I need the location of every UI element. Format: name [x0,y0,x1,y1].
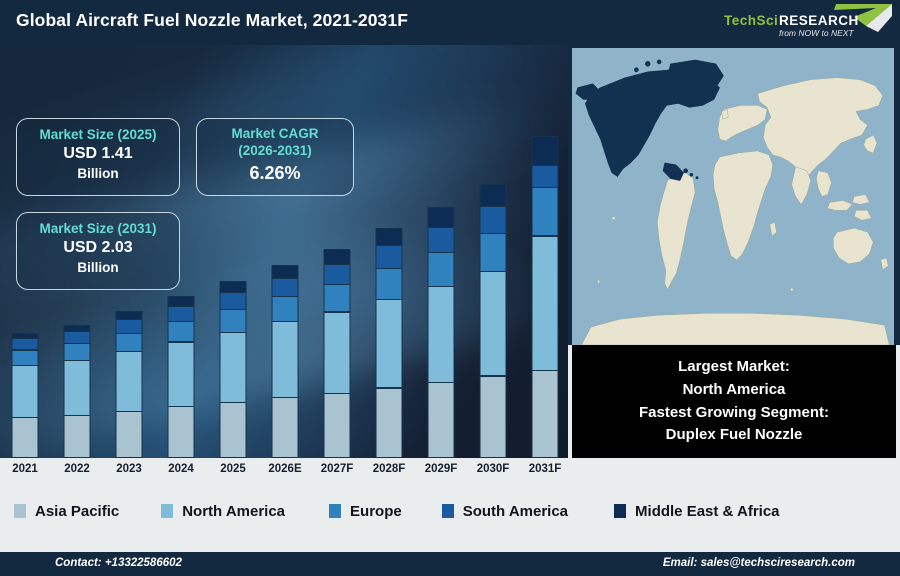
bar-segment-europe [116,333,143,352]
bar-segment-asia-pacific [532,370,559,458]
bar-segment-europe [532,187,559,236]
bar-segment-north-america [168,342,195,407]
bar-segment-north-america [324,312,351,394]
stacked-bar [272,266,299,458]
stat-value: 6.26% [197,162,353,185]
bar-segment-asia-pacific [480,376,507,458]
stat-label: Market Size (2031) [17,221,179,238]
bar-segment-europe [12,350,39,366]
techsci-research-logo: TechSci RESEARCH from NOW to NEXT [716,2,894,43]
bar-segment-asia-pacific [12,417,39,458]
legend-label: North America [182,503,285,520]
bar-group-2025 [207,45,259,458]
bar-group-2031F [519,45,568,458]
largest-market-label: Largest Market: [678,356,790,379]
largest-market-value: North America [683,379,786,402]
bar-segment-europe [64,343,91,361]
bar-segment-south-america [116,319,143,334]
key-insights-box: Largest Market: North America Fastest Gr… [572,345,896,458]
bar-segment-south-america [64,331,91,344]
stacked-bar [480,185,507,458]
svg-text:RESEARCH: RESEARCH [779,13,859,28]
bar-segment-south-america [480,206,507,234]
stacked-bar [12,334,39,458]
stat-label: Market CAGR [197,126,353,143]
bar-segment-europe [168,321,195,342]
chart-legend: Asia PacificNorth AmericaEuropeSouth Ame… [0,488,900,534]
axis-tick-2027F: 2027F [311,463,363,475]
footer-email: Email: sales@techsciresearch.com [663,557,855,569]
fastest-segment-value: Duplex Fuel Nozzle [666,424,803,447]
legend-swatch [442,504,454,518]
legend-label: Asia Pacific [35,503,119,520]
stacked-bar [532,137,559,458]
svg-text:TechSci: TechSci [724,13,778,28]
bar-segment-middle-east-africa [324,249,351,264]
stacked-bar [168,297,195,458]
stat-value: USD 1.41 [17,144,179,165]
bar-segment-middle-east-africa [480,184,507,207]
stacked-bar [324,250,351,458]
bar-group-2030F [467,45,519,458]
legend-item-asia-pacific[interactable]: Asia Pacific [14,503,119,520]
bar-group-2027F [311,45,363,458]
stat-unit: Billion [17,259,179,277]
svg-text:from NOW to NEXT: from NOW to NEXT [779,28,854,38]
chart-panel: Market Size (2025) USD 1.41 Billion Mark… [0,45,568,458]
bar-segment-asia-pacific [272,397,299,458]
bar-segment-north-america [12,365,39,418]
legend-item-south-america[interactable]: South America [442,503,568,520]
axis-tick-2022: 2022 [51,463,103,475]
stacked-bar [220,282,247,458]
bar-segment-south-america [272,278,299,297]
legend-item-europe[interactable]: Europe [329,503,402,520]
bar-group-2028F [363,45,415,458]
axis-tick-2026E: 2026E [259,463,311,475]
legend-swatch [161,504,173,518]
legend-label: Europe [350,503,402,520]
bar-segment-asia-pacific [168,406,195,458]
axis-tick-2024: 2024 [155,463,207,475]
bar-segment-europe [220,309,247,332]
stacked-bar [428,208,455,458]
bar-segment-north-america [376,299,403,389]
stacked-bar [116,312,143,458]
bar-segment-north-america [220,332,247,403]
stat-unit: Billion [17,165,179,183]
axis-tick-2030F: 2030F [467,463,519,475]
bar-segment-middle-east-africa [272,265,299,279]
stat-card-market-size-2025: Market Size (2025) USD 1.41 Billion [16,118,180,196]
bar-segment-north-america [272,321,299,398]
bar-segment-europe [272,296,299,322]
bar-segment-middle-east-africa [220,281,247,293]
bar-segment-asia-pacific [64,415,91,458]
world-map [572,48,894,345]
stacked-bar [64,325,91,458]
axis-tick-2023: 2023 [103,463,155,475]
bar-segment-asia-pacific [116,411,143,458]
stat-card-market-size-2031: Market Size (2031) USD 2.03 Billion [16,212,180,290]
bar-group-2029F [415,45,467,458]
bar-segment-asia-pacific [324,393,351,458]
bar-segment-asia-pacific [376,388,403,458]
infographic-page: Global Aircraft Fuel Nozzle Market, 2021… [0,0,900,576]
bar-segment-south-america [428,227,455,253]
legend-item-middle-east-africa[interactable]: Middle East & Africa [614,503,779,520]
bar-segment-middle-east-africa [532,136,559,166]
bar-segment-middle-east-africa [428,207,455,227]
bar-segment-south-america [220,292,247,310]
bar-segment-north-america [480,271,507,376]
stat-card-market-cagr: Market CAGR (2026-2031) 6.26% [196,118,354,196]
legend-swatch [614,504,626,518]
bar-segment-south-america [168,306,195,322]
header-bar: Global Aircraft Fuel Nozzle Market, 2021… [0,0,900,45]
footer-bar: Contact: +13322586602 Email: sales@techs… [0,552,900,576]
bar-segment-south-america [532,165,559,188]
bar-group-2026E [259,45,311,458]
bar-segment-north-america [64,360,91,416]
stat-sublabel: (2026-2031) [197,143,353,160]
legend-swatch [329,504,341,518]
bar-segment-north-america [532,236,559,371]
bar-segment-europe [428,252,455,287]
bar-segment-south-america [12,338,39,350]
bar-segment-middle-east-africa [376,228,403,246]
bar-segment-south-america [376,245,403,268]
bar-segment-asia-pacific [220,402,247,458]
stat-label: Market Size (2025) [17,127,179,144]
bar-segment-north-america [116,351,143,412]
stat-value: USD 2.03 [17,238,179,259]
bar-segment-north-america [428,286,455,383]
world-map-panel [568,45,900,345]
page-title: Global Aircraft Fuel Nozzle Market, 2021… [16,10,408,31]
footer-contact: Contact: +13322586602 [55,557,182,569]
axis-tick-2021: 2021 [0,463,51,475]
legend-label: Middle East & Africa [635,503,779,520]
bar-segment-europe [324,284,351,312]
axis-tick-2031F: 2031F [519,463,571,475]
legend-label: South America [463,503,568,520]
fastest-segment-label: Fastest Growing Segment: [639,402,829,425]
legend-item-north-america[interactable]: North America [161,503,285,520]
axis-tick-2025: 2025 [207,463,259,475]
axis-tick-2028F: 2028F [363,463,415,475]
chart-x-axis: 202120222023202420252026E2027F2028F2029F… [0,458,568,488]
stacked-bar [376,229,403,458]
bar-segment-south-america [324,264,351,285]
bar-segment-asia-pacific [428,382,455,458]
legend-swatch [14,504,26,518]
bar-segment-europe [480,233,507,272]
bar-segment-europe [376,268,403,300]
axis-tick-2029F: 2029F [415,463,467,475]
